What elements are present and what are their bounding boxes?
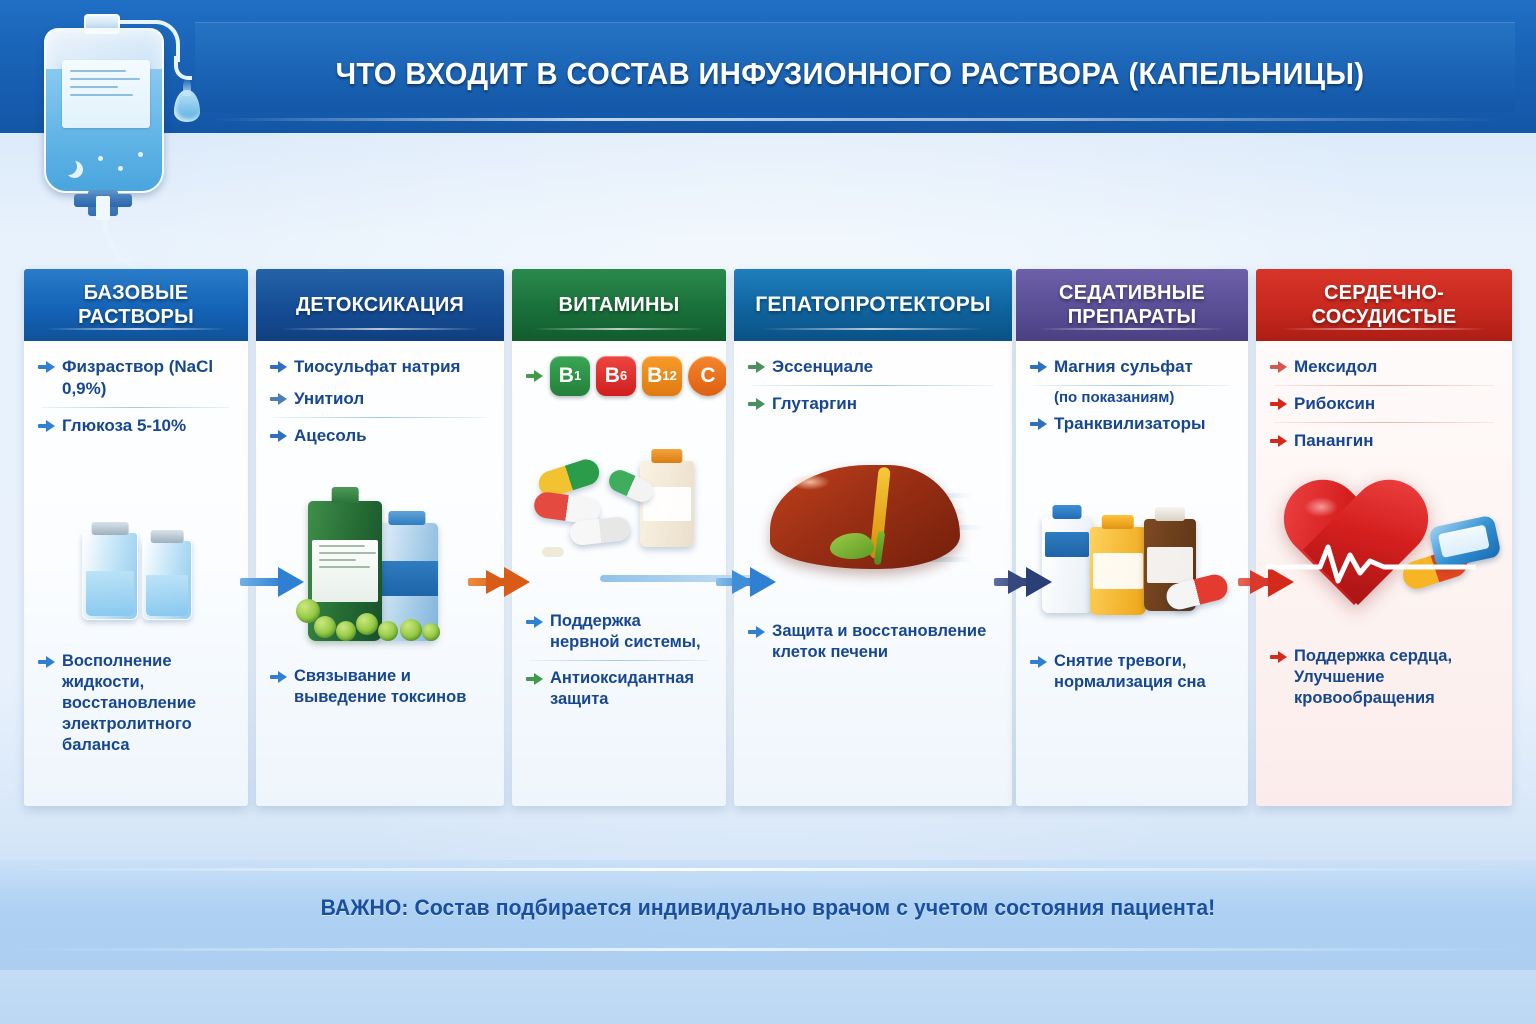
grape-icon (314, 616, 336, 638)
category-header-vitamins: ВИТАМИНЫ (512, 269, 726, 341)
vitamin-badge-b6[interactable]: B6 (596, 356, 636, 396)
category-title-line-1: СЕРДЕЧНО- (1324, 282, 1444, 304)
list-item[interactable]: Тиосульфат натрия (268, 351, 492, 383)
arrow-right-icon (270, 391, 287, 408)
category-header-detox: ДЕТОКСИКАЦИЯ (256, 269, 504, 341)
header-sheen (1039, 328, 1225, 330)
grape-icon (422, 623, 440, 641)
category-header-base-solutions: БАЗОВЫЕ РАСТВОРЫ (24, 269, 248, 341)
benefit-item[interactable]: Восполнение жидкости, восстановление эле… (36, 646, 236, 761)
badge-sub: 6 (620, 365, 627, 387)
ingredient-label: Глутаргин (772, 393, 857, 415)
list-item[interactable]: Физраствор (NaCl 0,9%) (36, 351, 236, 405)
arrow-right-icon (1270, 359, 1287, 376)
arrow-right-icon (526, 614, 543, 631)
divider (530, 660, 708, 661)
connector-arrow-1 (240, 567, 312, 597)
divider (274, 417, 486, 418)
arrow-right-icon (748, 396, 765, 413)
category-header-hepatoprotectors: ГЕПАТОПРОТЕКТОРЫ (734, 269, 1012, 341)
vial-cap (92, 522, 129, 535)
ingredient-label: Мексидол (1294, 356, 1377, 378)
category-header-cardiovascular: СЕРДЕЧНО- СОСУДИСТЫЕ (1256, 269, 1512, 341)
arrow-right-icon (526, 671, 543, 688)
vitamin-badge-list: B1 B6 B12 C (512, 351, 726, 401)
benefit-label: Восполнение жидкости, восстановление эле… (62, 651, 234, 756)
benefit-item[interactable]: Антиоксидантная защита (524, 663, 714, 715)
benefit-item[interactable]: Поддержка нервной системы, (524, 606, 714, 658)
arrow-head (1026, 567, 1052, 597)
arrow-right-icon (270, 669, 287, 686)
divider (1274, 385, 1494, 386)
arrow-right-icon (1030, 416, 1047, 433)
list-item[interactable]: Мексидол (1268, 351, 1500, 383)
vitamin-badge-b12[interactable]: B12 (642, 356, 682, 396)
category-body-base-solutions: Физраствор (NaCl 0,9%) Глюкоза 5-10% (24, 341, 248, 806)
category-card-hepatoprotectors[interactable]: ГЕПАТОПРОТЕКТОРЫ Эссенциале Глутаргин (734, 269, 1012, 806)
list-item[interactable]: Эссенциале (746, 351, 1000, 383)
bottle-cap (388, 511, 425, 525)
category-header-sedatives: СЕДАТИВНЫЕ ПРЕПАРАТЫ (1016, 269, 1248, 341)
arrow-right-icon (38, 359, 55, 376)
category-body-cardiovascular: Мексидол Рибоксин Панангин (1256, 341, 1512, 806)
list-item[interactable]: Унитиол (268, 383, 492, 415)
arrow-head (278, 567, 304, 597)
category-title-line-2: РАСТВОРЫ (78, 306, 194, 328)
vial-cap (151, 530, 184, 543)
grape-icon (356, 613, 378, 635)
category-card-detox[interactable]: ДЕТОКСИКАЦИЯ Тиосульфат натрия Унитиол А… (256, 269, 504, 806)
gallbladder-icon (830, 533, 874, 559)
bottle-band (376, 561, 438, 596)
pill-bottle-icon (1042, 517, 1092, 613)
vials-icon (24, 496, 248, 626)
vial-liquid (146, 575, 188, 616)
category-title: ВИТАМИНЫ (559, 293, 680, 317)
liver-highlight (790, 474, 830, 490)
ingredient-label: Магния сульфат (1054, 356, 1193, 378)
liver-organ-icon (770, 465, 960, 575)
arrow-right-icon (526, 368, 543, 385)
ingredient-label: Панангин (1294, 430, 1373, 452)
footer-divider-bottom (0, 948, 1536, 951)
arrow-right-icon (38, 418, 55, 435)
arrow-right-icon (1270, 649, 1287, 666)
ingredient-label: Рибоксин (1294, 393, 1375, 415)
vitamin-badge-c[interactable]: C (688, 356, 726, 396)
arrow-right-icon (270, 359, 287, 376)
badge-letter: C (700, 365, 715, 387)
ingredient-list: Физраствор (NaCl 0,9%) Глюкоза 5-10% (24, 351, 248, 442)
list-item[interactable]: Глюкоза 5-10% (36, 410, 236, 442)
indication-note: (по показаниям) (1028, 388, 1236, 408)
bottle-cap (651, 449, 682, 463)
benefit-item[interactable]: Поддержка сердца, Улучшение кровообращен… (1268, 641, 1500, 714)
ingredient-label: Ацесоль (294, 425, 367, 447)
arrow-head (504, 567, 530, 597)
pill-bottles-icon (1016, 491, 1248, 631)
category-card-cardiovascular[interactable]: СЕРДЕЧНО- СОСУДИСТЫЕ Мексидол Рибоксин (1256, 269, 1512, 806)
header-sheen (762, 328, 984, 330)
ingredient-list: Мексидол Рибоксин Панангин (1256, 351, 1512, 457)
category-title: ГЕПАТОПРОТЕКТОРЫ (755, 293, 991, 317)
list-item[interactable]: Панангин (1268, 425, 1500, 457)
arrow-right-icon (1030, 654, 1047, 671)
benefit-label: Поддержка нервной системы, (550, 611, 712, 653)
category-card-base-solutions[interactable]: БАЗОВЫЕ РАСТВОРЫ Физраствор (NaCl 0,9%) … (24, 269, 248, 806)
category-body-vitamins: B1 B6 B12 C (512, 341, 726, 806)
bottle-band (1045, 532, 1089, 557)
divider (752, 385, 994, 386)
arrow-right-icon (1270, 433, 1287, 450)
ingredient-label: Физраствор (NaCl 0,9%) (62, 356, 234, 400)
connector-arrow-4 (994, 567, 1066, 597)
list-item[interactable]: Глутаргин (746, 388, 1000, 420)
bottle-cap (1053, 505, 1082, 519)
ingredient-label: Глюкоза 5-10% (62, 415, 186, 437)
pills-capsules-icon (512, 417, 726, 592)
green-bottle-icon (256, 471, 504, 661)
arrow-right-icon (748, 624, 765, 641)
ingredient-label: Эссенциале (772, 356, 873, 378)
category-title: ДЕТОКСИКАЦИЯ (296, 293, 464, 317)
category-title-line-2: ПРЕПАРАТЫ (1068, 306, 1197, 328)
vitamin-badges: B1 B6 B12 C (550, 356, 726, 396)
bottle-cap (1102, 515, 1134, 529)
capsule-icon (569, 516, 631, 546)
badge-letter: B (605, 365, 620, 387)
benefit-block: Восполнение жидкости, восстановление эле… (24, 646, 248, 761)
bottle-label (1093, 553, 1143, 588)
header-sheen (533, 328, 704, 330)
divider (42, 407, 230, 408)
footer-divider-top (0, 868, 1536, 871)
benefit-label: Снятие тревоги, нормализация сна (1054, 651, 1234, 693)
vitamin-badge-b1[interactable]: B1 (550, 356, 590, 396)
grape-icon (336, 621, 356, 641)
ingredient-list: Эссенциале Глутаргин (734, 351, 1012, 420)
heart-ecg-icon (1256, 477, 1512, 627)
badge-sub: 1 (574, 365, 581, 387)
list-item[interactable]: B1 B6 B12 C (524, 351, 714, 401)
vial-liquid (86, 571, 134, 616)
benefit-block: Связывание и выведение токсинов (256, 661, 504, 713)
ingredient-label: Тиосульфат натрия (294, 356, 460, 378)
benefit-item[interactable]: Снятие тревоги, нормализация сна (1028, 646, 1236, 698)
benefit-block: Снятие тревоги, нормализация сна (1016, 646, 1248, 698)
arrow-right-icon (748, 359, 765, 376)
benefit-item[interactable]: Связывание и выведение токсинов (268, 661, 492, 713)
ingredient-list: Магния сульфат (по показаниям) Транквили… (1016, 351, 1248, 435)
ingredient-label: Унитиол (294, 388, 364, 410)
header-sheen (1282, 328, 1487, 330)
category-title-line-2: СОСУДИСТЫЕ (1312, 306, 1457, 328)
pill-bottle-icon (640, 461, 694, 547)
tablet-icon (542, 547, 564, 557)
arrow-head (750, 567, 776, 597)
list-item[interactable]: Ацесоль (268, 420, 492, 452)
arrow-right-icon (1030, 359, 1047, 376)
benefit-block: Поддержка сердца, Улучшение кровообращен… (1256, 641, 1512, 714)
benefit-label: Поддержка сердца, Улучшение кровообращен… (1294, 646, 1498, 709)
badge-letter: B (559, 365, 574, 387)
benefit-block: Поддержка нервной системы, Антиоксидантн… (512, 606, 726, 715)
category-card-vitamins[interactable]: ВИТАМИНЫ B1 B6 B12 (512, 269, 726, 806)
category-title-line-1: БАЗОВЫЕ (84, 282, 189, 304)
list-item[interactable]: Транквилизаторы (1028, 408, 1236, 435)
important-note: ВАЖНО: Состав подбирается индивидуально … (31, 895, 1506, 921)
benefit-block: Защита и восстановление клеток печени (734, 616, 1012, 668)
grape-icon (400, 619, 422, 641)
bottle-cap (1155, 507, 1185, 521)
arrow-right-icon (1270, 396, 1287, 413)
benefit-label: Связывание и выведение токсинов (294, 666, 490, 708)
badge-letter: B (647, 365, 662, 387)
benefit-label: Антиоксидантная защита (550, 668, 712, 710)
pill-bottle-icon (1090, 527, 1146, 615)
header-sheen (281, 328, 479, 330)
ingredient-list: Тиосульфат натрия Унитиол Ацесоль (256, 351, 504, 452)
ingredient-label: Транквилизаторы (1054, 413, 1206, 435)
divider (1274, 422, 1494, 423)
grape-icon (378, 621, 398, 641)
category-title-line-1: СЕДАТИВНЫЕ (1059, 282, 1205, 304)
benefit-item[interactable]: Защита и восстановление клеток печени (746, 616, 1000, 668)
bottle-label (312, 540, 378, 602)
vial-icon (142, 540, 192, 620)
header-sheen (46, 328, 225, 330)
divider (1034, 385, 1230, 386)
vial-icon (82, 532, 138, 620)
list-item[interactable]: Рибоксин (1268, 388, 1500, 420)
badge-sub: 12 (662, 365, 676, 387)
connector-arrow-2 (468, 567, 540, 597)
benefit-label: Защита и восстановление клеток печени (772, 621, 998, 663)
connector-arrow-3 (716, 567, 788, 597)
ecg-line-icon (1266, 537, 1476, 587)
arrow-right-icon (270, 428, 287, 445)
category-card-sedatives[interactable]: СЕДАТИВНЫЕ ПРЕПАРАТЫ Магния сульфат (по … (1016, 269, 1248, 806)
heart-highlight (1304, 497, 1338, 517)
bottle-label (1147, 547, 1193, 584)
arrow-right-icon (38, 654, 55, 671)
bottle-neck (332, 487, 359, 503)
list-item[interactable]: Магния сульфат (1028, 351, 1236, 383)
